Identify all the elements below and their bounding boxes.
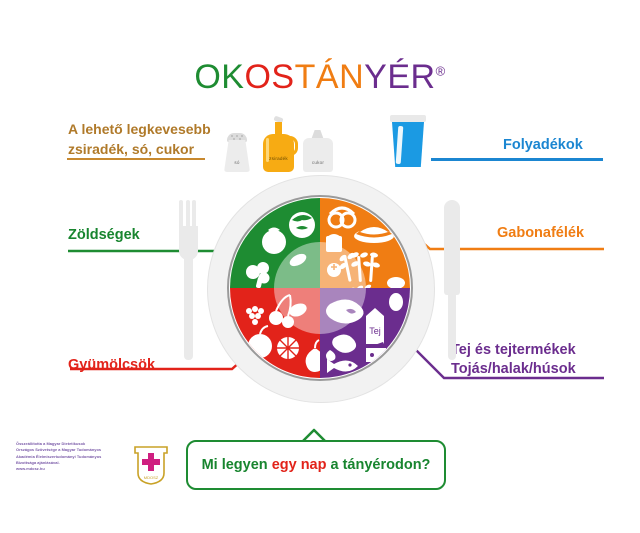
title-letter-4: T	[295, 58, 316, 96]
title-letter-2: O	[244, 58, 271, 96]
knife-handle	[448, 288, 456, 360]
title-letters: OKOSTÁNYÉR	[194, 58, 435, 96]
callout-box: Mi legyen egy nap a tányérodon?	[186, 440, 446, 490]
callout-segment-1: egy nap	[272, 457, 327, 473]
oil-label: zsiradék	[262, 156, 295, 161]
attribution-url[interactable]: www.mdosz.hu	[16, 466, 128, 472]
label-grains: Gabonafélék	[497, 224, 584, 243]
condiment-group: só zsiradék cukor	[222, 114, 334, 172]
callout-segment-2: a tányérodon?	[326, 457, 430, 473]
title-letter-3: S	[271, 58, 294, 96]
sugar-label: cukor	[302, 160, 334, 165]
salt-body	[224, 140, 250, 172]
title-letter-7: Y	[364, 58, 387, 96]
label-fluids-underline	[431, 158, 603, 161]
sugar-body	[303, 138, 333, 172]
knife-blade	[444, 200, 460, 295]
sugar-jar-icon: cukor	[302, 128, 334, 172]
fork-handle	[184, 255, 193, 360]
title-letter-1: K	[221, 58, 244, 96]
infographic-canvas: OKOSTÁNYÉR® A lehető legkevesebb zsiradé…	[0, 0, 640, 533]
label-fat-line2: zsiradék, só, cukor	[68, 139, 211, 159]
plate-inner-overlay	[274, 242, 366, 334]
title-letter-9: R	[411, 58, 436, 96]
label-fat-line1: A lehető legkevesebb	[68, 119, 211, 139]
salt-label: só	[222, 160, 252, 165]
oil-bottle-icon: zsiradék	[262, 116, 295, 172]
registered-mark: ®	[436, 64, 446, 79]
label-dairy-protein: Tej és tejtermékek Tojás/halak/húsok	[451, 341, 576, 378]
knife-icon	[444, 200, 460, 360]
water-cup-icon	[390, 115, 426, 169]
attribution-text: Összeállította a Magyar Dietetikusok Ors…	[16, 441, 128, 473]
title-letter-6: N	[339, 58, 364, 96]
label-fluids: Folyadékok	[503, 136, 583, 155]
cup-rim	[390, 115, 426, 122]
label-fruits: Gyümölcsök	[68, 356, 155, 375]
callout-text: Mi legyen egy nap a tányérodon?	[202, 457, 431, 473]
label-dairy-line1: Tej és tejtermékek	[451, 341, 576, 360]
label-vegetables: Zöldségek	[68, 226, 140, 245]
title-letter-8: É	[387, 58, 410, 96]
label-dairy-line2: Tojás/halak/húsok	[451, 360, 576, 379]
salt-shaker-icon: só	[222, 130, 252, 172]
label-fat-underline	[67, 158, 205, 160]
title-letter-5: Á	[316, 58, 339, 96]
label-fat-salt-sugar: A lehető legkevesebb zsiradék, só, cukor	[68, 119, 211, 160]
fork-icon	[176, 200, 202, 360]
page-title: OKOSTÁNYÉR®	[0, 58, 640, 97]
plate-sectors: Tej	[230, 198, 410, 378]
smart-plate-diagram: Tej	[207, 175, 433, 401]
mdosz-logo: MDOSZ	[131, 443, 171, 485]
svg-text:Tej: Tej	[369, 326, 381, 336]
title-letter-0: O	[194, 58, 221, 96]
svg-text:MDOSZ: MDOSZ	[144, 475, 159, 480]
callout-segment-0: Mi legyen	[202, 457, 272, 473]
